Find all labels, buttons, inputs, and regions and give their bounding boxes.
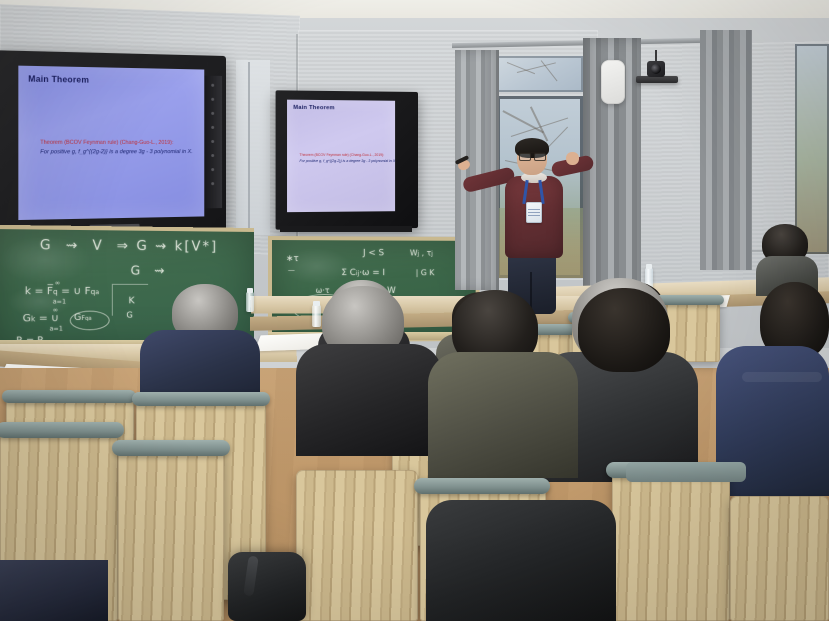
chair-armrest	[0, 422, 124, 438]
lecture-hall-photo: Main Theorem Theorem (BCOV Feynman rule)…	[0, 0, 829, 621]
slide-title: Main Theorem	[28, 74, 89, 84]
curtain-far-right	[700, 30, 752, 270]
audience-head	[578, 288, 670, 372]
door-frame	[248, 62, 250, 234]
chalk-circle	[70, 311, 110, 331]
door-glass-panel	[236, 60, 270, 235]
right-display-base	[280, 226, 412, 232]
chair[interactable]	[118, 450, 224, 621]
audience-body	[426, 500, 616, 621]
slide-theorem-line: Theorem (BCOV Feynman rule) (Chang-Guo-L…	[299, 153, 384, 157]
chair[interactable]	[296, 470, 418, 621]
left-display-screen: Main Theorem Theorem (BCOV Feynman rule)…	[18, 66, 204, 220]
transom-window	[497, 56, 583, 92]
chair[interactable]	[730, 496, 829, 621]
backpack[interactable]	[228, 552, 306, 621]
window-far-right	[795, 44, 829, 254]
chair-armrest	[2, 390, 136, 403]
camera-bracket	[636, 76, 678, 83]
water-bottle[interactable]	[312, 305, 321, 327]
audience-body	[140, 330, 260, 400]
left-display-side-bezel	[204, 76, 222, 209]
presenter-right-hand	[566, 152, 579, 165]
bottle-cap	[646, 264, 652, 269]
left-display[interactable]: Main Theorem Theorem (BCOV Feynman rule)…	[0, 50, 226, 242]
audience-body	[428, 352, 578, 478]
slide-statement: For positive g, f_g^{(2g-2)} is a degree…	[40, 149, 192, 155]
chair-armrest	[112, 440, 230, 456]
chair-armrest	[132, 392, 270, 406]
glasses-icon	[519, 152, 545, 159]
chair-armrest	[414, 478, 550, 494]
camera-lens-icon	[651, 64, 661, 74]
audience-body	[296, 344, 442, 456]
bottle-cap	[247, 288, 253, 293]
chair-seat	[626, 462, 746, 482]
bottle-cap	[313, 301, 320, 306]
jacket-seam	[742, 372, 822, 382]
right-display[interactable]: Main Theorem Theorem (BCOV Feynman rule)…	[276, 90, 418, 229]
slide-theorem-line: Theorem (BCOV Feynman rule) (Chang-Guo-L…	[40, 140, 173, 146]
wall-speaker	[601, 60, 625, 104]
slide-statement: For positive g, f_g^{(2g-2)} is a degree…	[299, 159, 396, 163]
water-bottle[interactable]	[246, 292, 254, 312]
right-display-screen: Main Theorem Theorem (BCOV Feynman rule)…	[287, 100, 395, 213]
chair[interactable]	[612, 470, 730, 621]
slide-title: Main Theorem	[293, 105, 335, 111]
presenter-badge-text	[528, 209, 540, 216]
audience-body	[0, 560, 108, 621]
